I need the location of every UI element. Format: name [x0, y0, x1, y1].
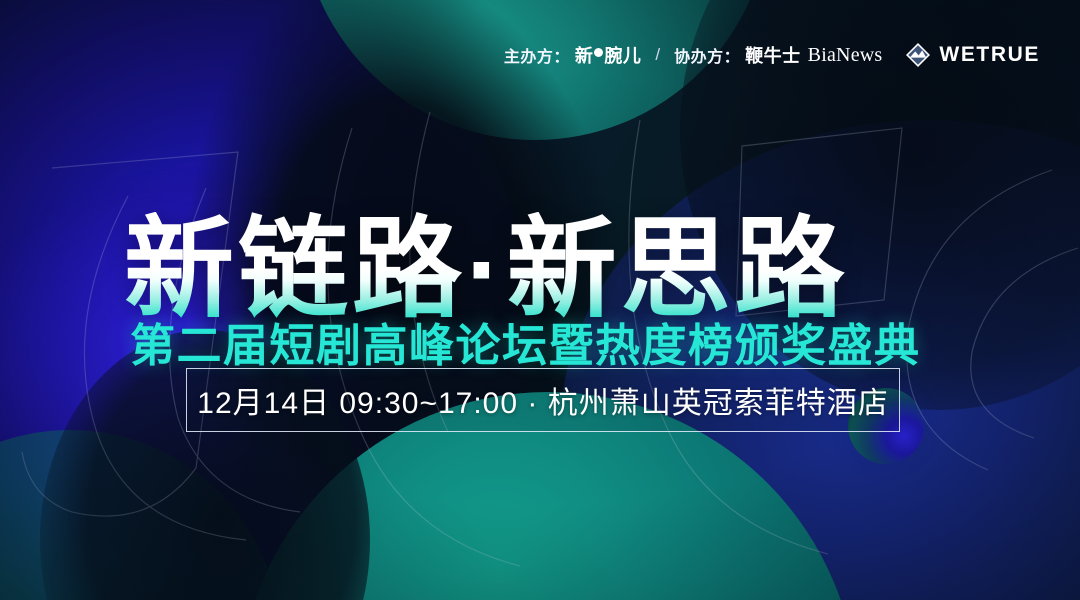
- event-poster: 主办方： 新 腕儿 / 协办方： 鞭牛士 BiaNews WE: [0, 0, 1080, 600]
- organizer-name-suffix: 腕儿: [604, 42, 641, 68]
- partner-logo: WETRUE: [905, 42, 1040, 68]
- organizer-group: 主办方： 新 腕儿: [504, 42, 642, 68]
- wetrue-diamond-mountain-icon: [905, 42, 931, 68]
- co-organizer-name-cn: 鞭牛士: [745, 42, 801, 68]
- poster-content: 主办方： 新 腕儿 / 协办方： 鞭牛士 BiaNews WE: [0, 0, 1080, 600]
- co-organizer-label: 协办方：: [674, 43, 740, 67]
- organizer-name: 新 腕儿: [575, 42, 642, 68]
- co-organizer-group: 协办方： 鞭牛士 BiaNews: [674, 42, 882, 68]
- partner-name: WETRUE: [939, 43, 1040, 67]
- co-organizer-name-en: BiaNews: [808, 44, 883, 67]
- sponsor-bar: 主办方： 新 腕儿 / 协办方： 鞭牛士 BiaNews WE: [504, 42, 1040, 68]
- circle-brandmark-icon: [594, 48, 603, 57]
- event-info-box: 12月14日 09:30~17:00 · 杭州萧山英冠索菲特酒店: [186, 368, 900, 432]
- organizer-label: 主办方：: [504, 43, 570, 67]
- page-subtitle: 第二届短剧高峰论坛暨热度榜颁奖盛典: [130, 309, 921, 374]
- organizer-name-prefix: 新: [575, 42, 594, 68]
- sponsor-separator: /: [655, 45, 660, 65]
- event-info-text: 12月14日 09:30~17:00 · 杭州萧山英冠索菲特酒店: [197, 378, 888, 422]
